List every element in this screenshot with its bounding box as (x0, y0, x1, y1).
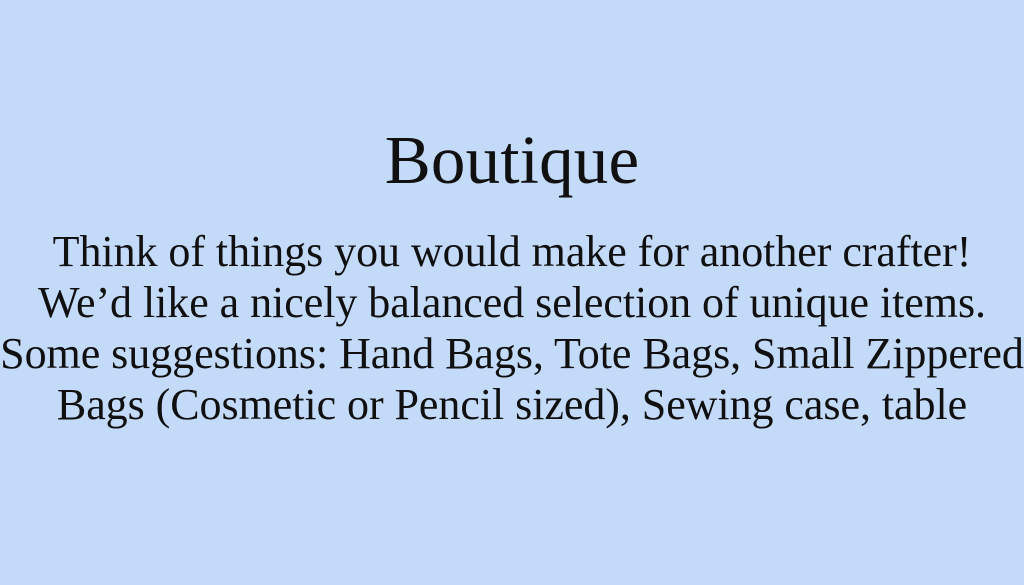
body-line: Some suggestions: Hand Bags, Tote Bags, … (0, 328, 1024, 379)
body-line: Bags (Cosmetic or Pencil sized), Sewing … (0, 379, 1024, 430)
slide-canvas: Boutique Think of things you would make … (0, 0, 1024, 585)
body-line: We’d like a nicely balanced selection of… (0, 277, 1024, 328)
body-line: Think of things you would make for anoth… (0, 226, 1024, 277)
slide-body-text: Think of things you would make for anoth… (0, 226, 1024, 430)
page-title: Boutique (0, 121, 1024, 199)
